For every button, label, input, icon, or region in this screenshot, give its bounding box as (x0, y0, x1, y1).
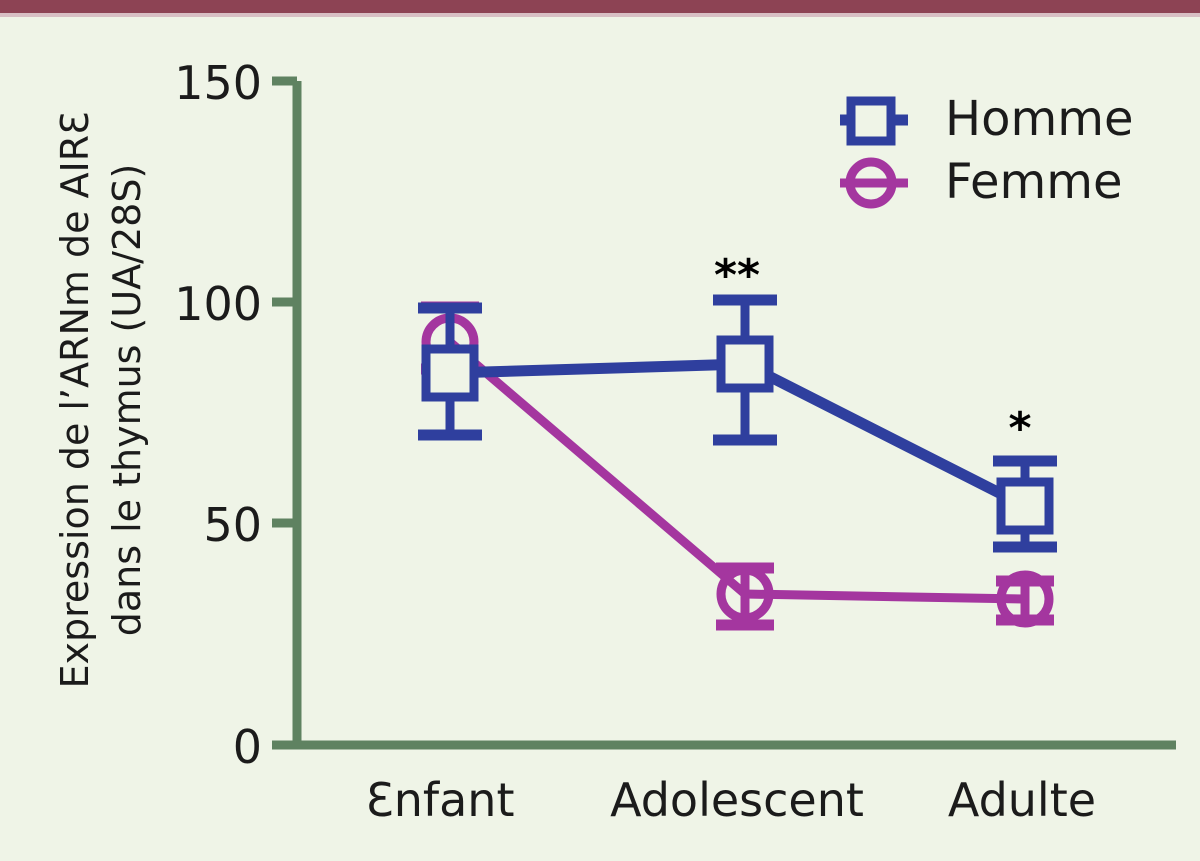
significance-marker-adulte: * (1008, 403, 1031, 454)
homme-marker-adulte (1001, 482, 1049, 530)
chart-canvas: 150 100 50 0 Expression de l’ARNm de AIR… (0, 0, 1200, 861)
x-tick-label-adolescent: Adolescent (610, 773, 864, 827)
significance-marker-adolescent: ** (714, 250, 760, 301)
x-tick-label-enfant: Ɛnfant (366, 773, 515, 827)
y-tick-label-0: 0 (233, 720, 262, 774)
y-axis-title: Expression de l’ARNm de AIRƐ dans le thy… (53, 111, 149, 688)
y-axis-title-line1: Expression de l’ARNm de AIRƐ (53, 111, 97, 688)
legend-item-femme[interactable]: Femme (840, 154, 1123, 210)
legend-label-femme: Femme (945, 154, 1123, 210)
homme-marker-adolescent (721, 340, 769, 388)
x-tick-label-adulte: Adulte (948, 773, 1096, 827)
series-homme (418, 300, 1057, 547)
legend-marker-homme-square (851, 101, 891, 141)
y-axis-title-line2: dans le thymus (UA/28S) (105, 164, 149, 637)
y-tick-label-150: 150 (174, 56, 262, 110)
homme-marker-enfant (426, 349, 474, 397)
y-tick-label-50: 50 (203, 498, 262, 552)
figure-container: 150 100 50 0 Expression de l’ARNm de AIR… (0, 0, 1200, 861)
legend: Homme Femme (840, 91, 1134, 210)
legend-label-homme: Homme (945, 91, 1134, 147)
legend-item-homme[interactable]: Homme (840, 91, 1134, 147)
y-tick-label-100: 100 (174, 277, 262, 331)
